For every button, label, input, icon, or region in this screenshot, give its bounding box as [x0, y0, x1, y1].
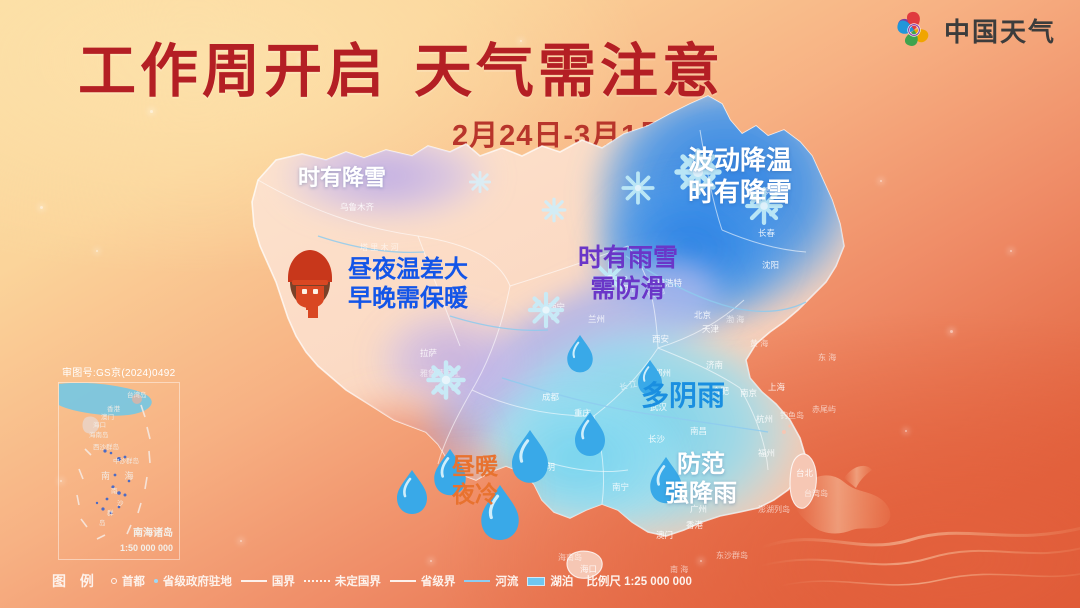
legend-item-capital: 首都 — [111, 573, 145, 589]
annotation-central: 时有雨雪 需防滑 — [578, 243, 678, 304]
legend-label-national-border: 国界 — [272, 573, 295, 589]
river-line-icon — [464, 580, 490, 582]
snowflake-icon — [543, 199, 565, 221]
annotation-southwest-line2: 夜冷 — [452, 480, 498, 508]
svg-text:群: 群 — [107, 508, 114, 517]
annotation-heavy-rain-line2: 强降雨 — [665, 479, 737, 508]
annotation-northeast: 波动降温 时有降雪 — [688, 145, 792, 208]
brand-logo[interactable]: 中国天气 — [894, 10, 1056, 50]
svg-text:乌鲁木齐: 乌鲁木齐 — [340, 202, 375, 212]
svg-text:北京: 北京 — [694, 310, 711, 320]
svg-text:成都: 成都 — [542, 392, 560, 402]
svg-text:沙: 沙 — [117, 500, 124, 507]
annotation-heavy-rain: 防范 强降雨 — [665, 450, 737, 509]
legend-item-province-border: 省级界 — [390, 573, 456, 589]
annotation-south-line1: 多阴雨 — [641, 379, 725, 413]
svg-text:钓鱼岛: 钓鱼岛 — [780, 410, 804, 420]
annotation-heavy-rain-line1: 防范 — [665, 450, 737, 479]
legend-label-province-seat: 省级政府驻地 — [163, 573, 232, 589]
svg-text:杭州: 杭州 — [756, 414, 773, 424]
legend-scale: 比例尺 1:25 000 000 — [586, 573, 691, 589]
map-legend: 图 例 首都 省级政府驻地 国界 未定国界 省级界 河流 湖泊 比例尺 1:25… — [52, 570, 752, 592]
annotation-tibet: 昼夜温差大 早晚需保暖 — [348, 255, 468, 314]
svg-text:天津: 天津 — [702, 324, 720, 334]
snowflake-icon — [429, 363, 464, 398]
legend-label-province-border: 省级界 — [421, 573, 456, 589]
snowflake-icon — [470, 172, 489, 191]
svg-text:济南: 济南 — [706, 360, 723, 370]
svg-text:东沙群岛: 东沙群岛 — [716, 550, 748, 560]
south-china-sea-inset-map: 台湾岛 香港 澳门 海口 海南岛 西沙群岛 中沙群岛 南 海 南沙 群岛 南海诸… — [58, 382, 180, 560]
legend-label-river: 河流 — [495, 573, 518, 589]
annotation-south: 多阴雨 — [641, 379, 725, 413]
legend-item-undefined-border: 未定国界 — [304, 573, 381, 589]
annotation-central-line2: 需防滑 — [578, 274, 678, 305]
inset-map-name: 南海诸岛 — [133, 524, 173, 539]
annotation-central-line1: 时有雨雪 — [578, 243, 678, 274]
svg-text:台湾岛: 台湾岛 — [127, 390, 147, 399]
legend-title: 图 例 — [52, 571, 99, 591]
annotation-northeast-line1: 波动降温 — [688, 145, 792, 177]
svg-text:南宁: 南宁 — [612, 482, 629, 492]
svg-text:东 海: 东 海 — [818, 352, 836, 362]
svg-text:西安: 西安 — [652, 334, 669, 344]
legend-item-river: 河流 — [464, 573, 518, 589]
svg-text:南昌: 南昌 — [690, 426, 707, 436]
svg-text:台北: 台北 — [796, 468, 814, 478]
svg-text:香港: 香港 — [686, 520, 704, 530]
legend-item-national-border: 国界 — [241, 573, 295, 589]
svg-text:南 海: 南 海 — [101, 470, 140, 481]
legend-label-lake: 湖泊 — [550, 573, 573, 589]
undefined-border-line-icon — [304, 580, 330, 582]
annotation-southwest-line1: 昼暖 — [452, 452, 498, 480]
snowflake-icon — [623, 173, 652, 202]
svg-text:海南岛: 海南岛 — [89, 430, 109, 439]
svg-text:澳门: 澳门 — [656, 530, 673, 540]
svg-text:上海: 上海 — [768, 382, 786, 392]
annotation-northwest-line1: 时有降雪 — [298, 165, 386, 192]
svg-text:黄 海: 黄 海 — [750, 338, 768, 348]
svg-text:台湾岛: 台湾岛 — [804, 488, 828, 498]
province-border-line-icon — [390, 580, 416, 582]
svg-text:海南岛: 海南岛 — [558, 552, 582, 562]
svg-text:岛: 岛 — [99, 518, 106, 527]
brand-name: 中国天气 — [944, 12, 1056, 49]
annotation-tibet-line1: 昼夜温差大 — [348, 255, 468, 284]
svg-text:长春: 长春 — [758, 228, 776, 238]
annotation-northeast-line2: 时有降雪 — [688, 177, 792, 209]
snowflake-icon — [530, 294, 562, 326]
svg-text:沈阳: 沈阳 — [762, 260, 779, 270]
lake-swatch-icon — [527, 577, 545, 586]
map-svg: 乌鲁木齐 拉萨 西宁 兰州 银川 西安 成都 重庆 昆明 贵阳 南宁 长沙 武汉… — [150, 60, 950, 580]
svg-text:南: 南 — [111, 486, 118, 495]
annotation-tibet-line2: 早晚需保暖 — [348, 284, 468, 313]
taiwan-island — [790, 454, 816, 508]
svg-text:香港: 香港 — [107, 404, 121, 413]
svg-text:赤尾屿: 赤尾屿 — [812, 405, 836, 414]
svg-text:兰州: 兰州 — [588, 314, 605, 324]
svg-text:塔 里 木 河: 塔 里 木 河 — [360, 242, 399, 252]
pinwheel-logo-icon — [894, 10, 934, 50]
legend-label-undefined-border: 未定国界 — [335, 573, 381, 589]
china-weather-map: 乌鲁木齐 拉萨 西宁 兰州 银川 西安 成都 重庆 昆明 贵阳 南宁 长沙 武汉… — [150, 60, 950, 580]
inset-map-scale: 1:50 000 000 — [120, 543, 173, 553]
svg-text:长沙: 长沙 — [648, 434, 666, 444]
svg-text:海口: 海口 — [93, 420, 106, 429]
capital-dot-icon — [111, 578, 117, 584]
svg-text:澎湖列岛: 澎湖列岛 — [758, 504, 790, 514]
legend-item-lake: 湖泊 — [527, 573, 573, 589]
province-dot-icon — [154, 579, 158, 583]
svg-text:拉萨: 拉萨 — [420, 348, 438, 358]
map-approval-number: 审图号:GS京(2024)0492 — [62, 364, 175, 379]
svg-text:南京: 南京 — [740, 388, 757, 398]
legend-label-capital: 首都 — [122, 573, 145, 589]
legend-item-province-seat: 省级政府驻地 — [154, 573, 232, 589]
svg-text:西沙群岛: 西沙群岛 — [93, 442, 119, 451]
annotation-southwest: 昼暖 夜冷 — [452, 452, 498, 508]
person-cold-weather-icon — [278, 244, 342, 320]
raindrop-icon — [397, 470, 427, 514]
svg-text:中沙群岛: 中沙群岛 — [113, 456, 139, 465]
svg-text:福州: 福州 — [758, 448, 775, 458]
annotation-northwest: 时有降雪 — [298, 165, 386, 192]
national-border-line-icon — [241, 580, 267, 583]
svg-text:渤 海: 渤 海 — [726, 314, 744, 324]
svg-text:澳门: 澳门 — [101, 412, 114, 421]
